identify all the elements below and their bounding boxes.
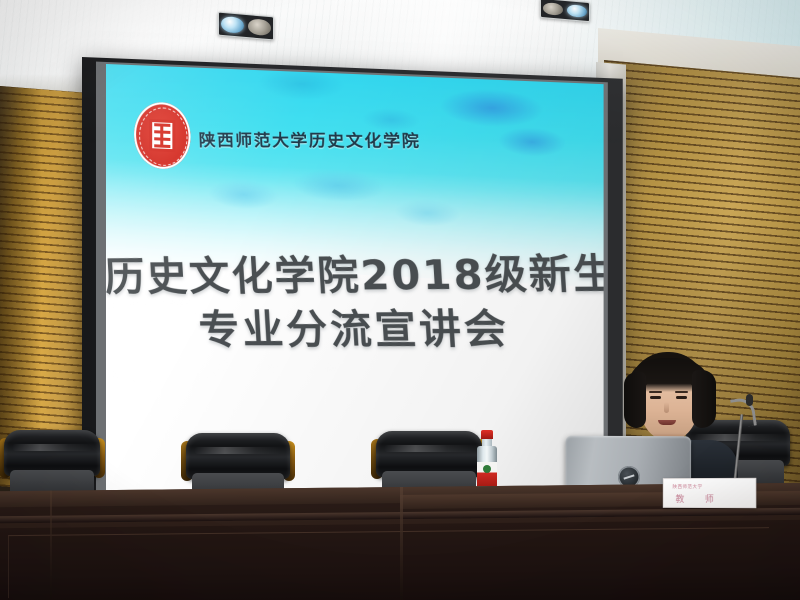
spotlight-bulb [567, 4, 587, 19]
spotlight-bulb [248, 18, 271, 36]
slide-title-block: 历史文化学院2018级新生 专业分流宣讲会 [106, 251, 604, 357]
presenter-hair-side [624, 372, 646, 428]
presenter-eyebrow [675, 391, 688, 393]
slide-cloud-wisp [193, 154, 511, 265]
slide-institution-name: 陕西师范大学历史文化学院 [198, 127, 421, 152]
bottle-neck [482, 439, 492, 446]
name-card-placard: 陕西师范大学 教 师 [663, 478, 756, 508]
bottle-label [477, 462, 497, 486]
podium-front-panel [8, 527, 769, 598]
name-card-institution: 陕西师范大学 [673, 484, 703, 490]
lecture-hall-photo: 陕西师范大学历史文化学院 历史文化学院2018级新生 专业分流宣讲会 [0, 0, 800, 600]
spotlight-bulb [221, 16, 244, 34]
podium-seam [50, 491, 52, 600]
name-card-name: 教 师 [675, 492, 722, 505]
presenter-nose [664, 402, 669, 413]
ceiling-spotlight-left-icon [218, 12, 274, 41]
presenter-mouth [658, 420, 676, 425]
spotlight-bulb [543, 2, 563, 17]
podium-seam [400, 487, 403, 600]
presenter-eye [676, 396, 687, 399]
water-bottle [476, 430, 498, 492]
bottle-cap [481, 430, 493, 439]
mic-head [746, 394, 753, 406]
presenter-eyebrow [649, 391, 662, 393]
seal-glyph [149, 119, 175, 152]
presenter-hair-side [692, 370, 716, 428]
projection-screen-frame: 陕西师范大学历史文化学院 历史文化学院2018级新生 专业分流宣讲会 [82, 57, 623, 534]
presenter-eye [650, 396, 661, 399]
slide-title-line-1: 历史文化学院2018级新生 [106, 251, 603, 301]
slide-title-line-2: 专业分流宣讲会 [106, 303, 603, 357]
